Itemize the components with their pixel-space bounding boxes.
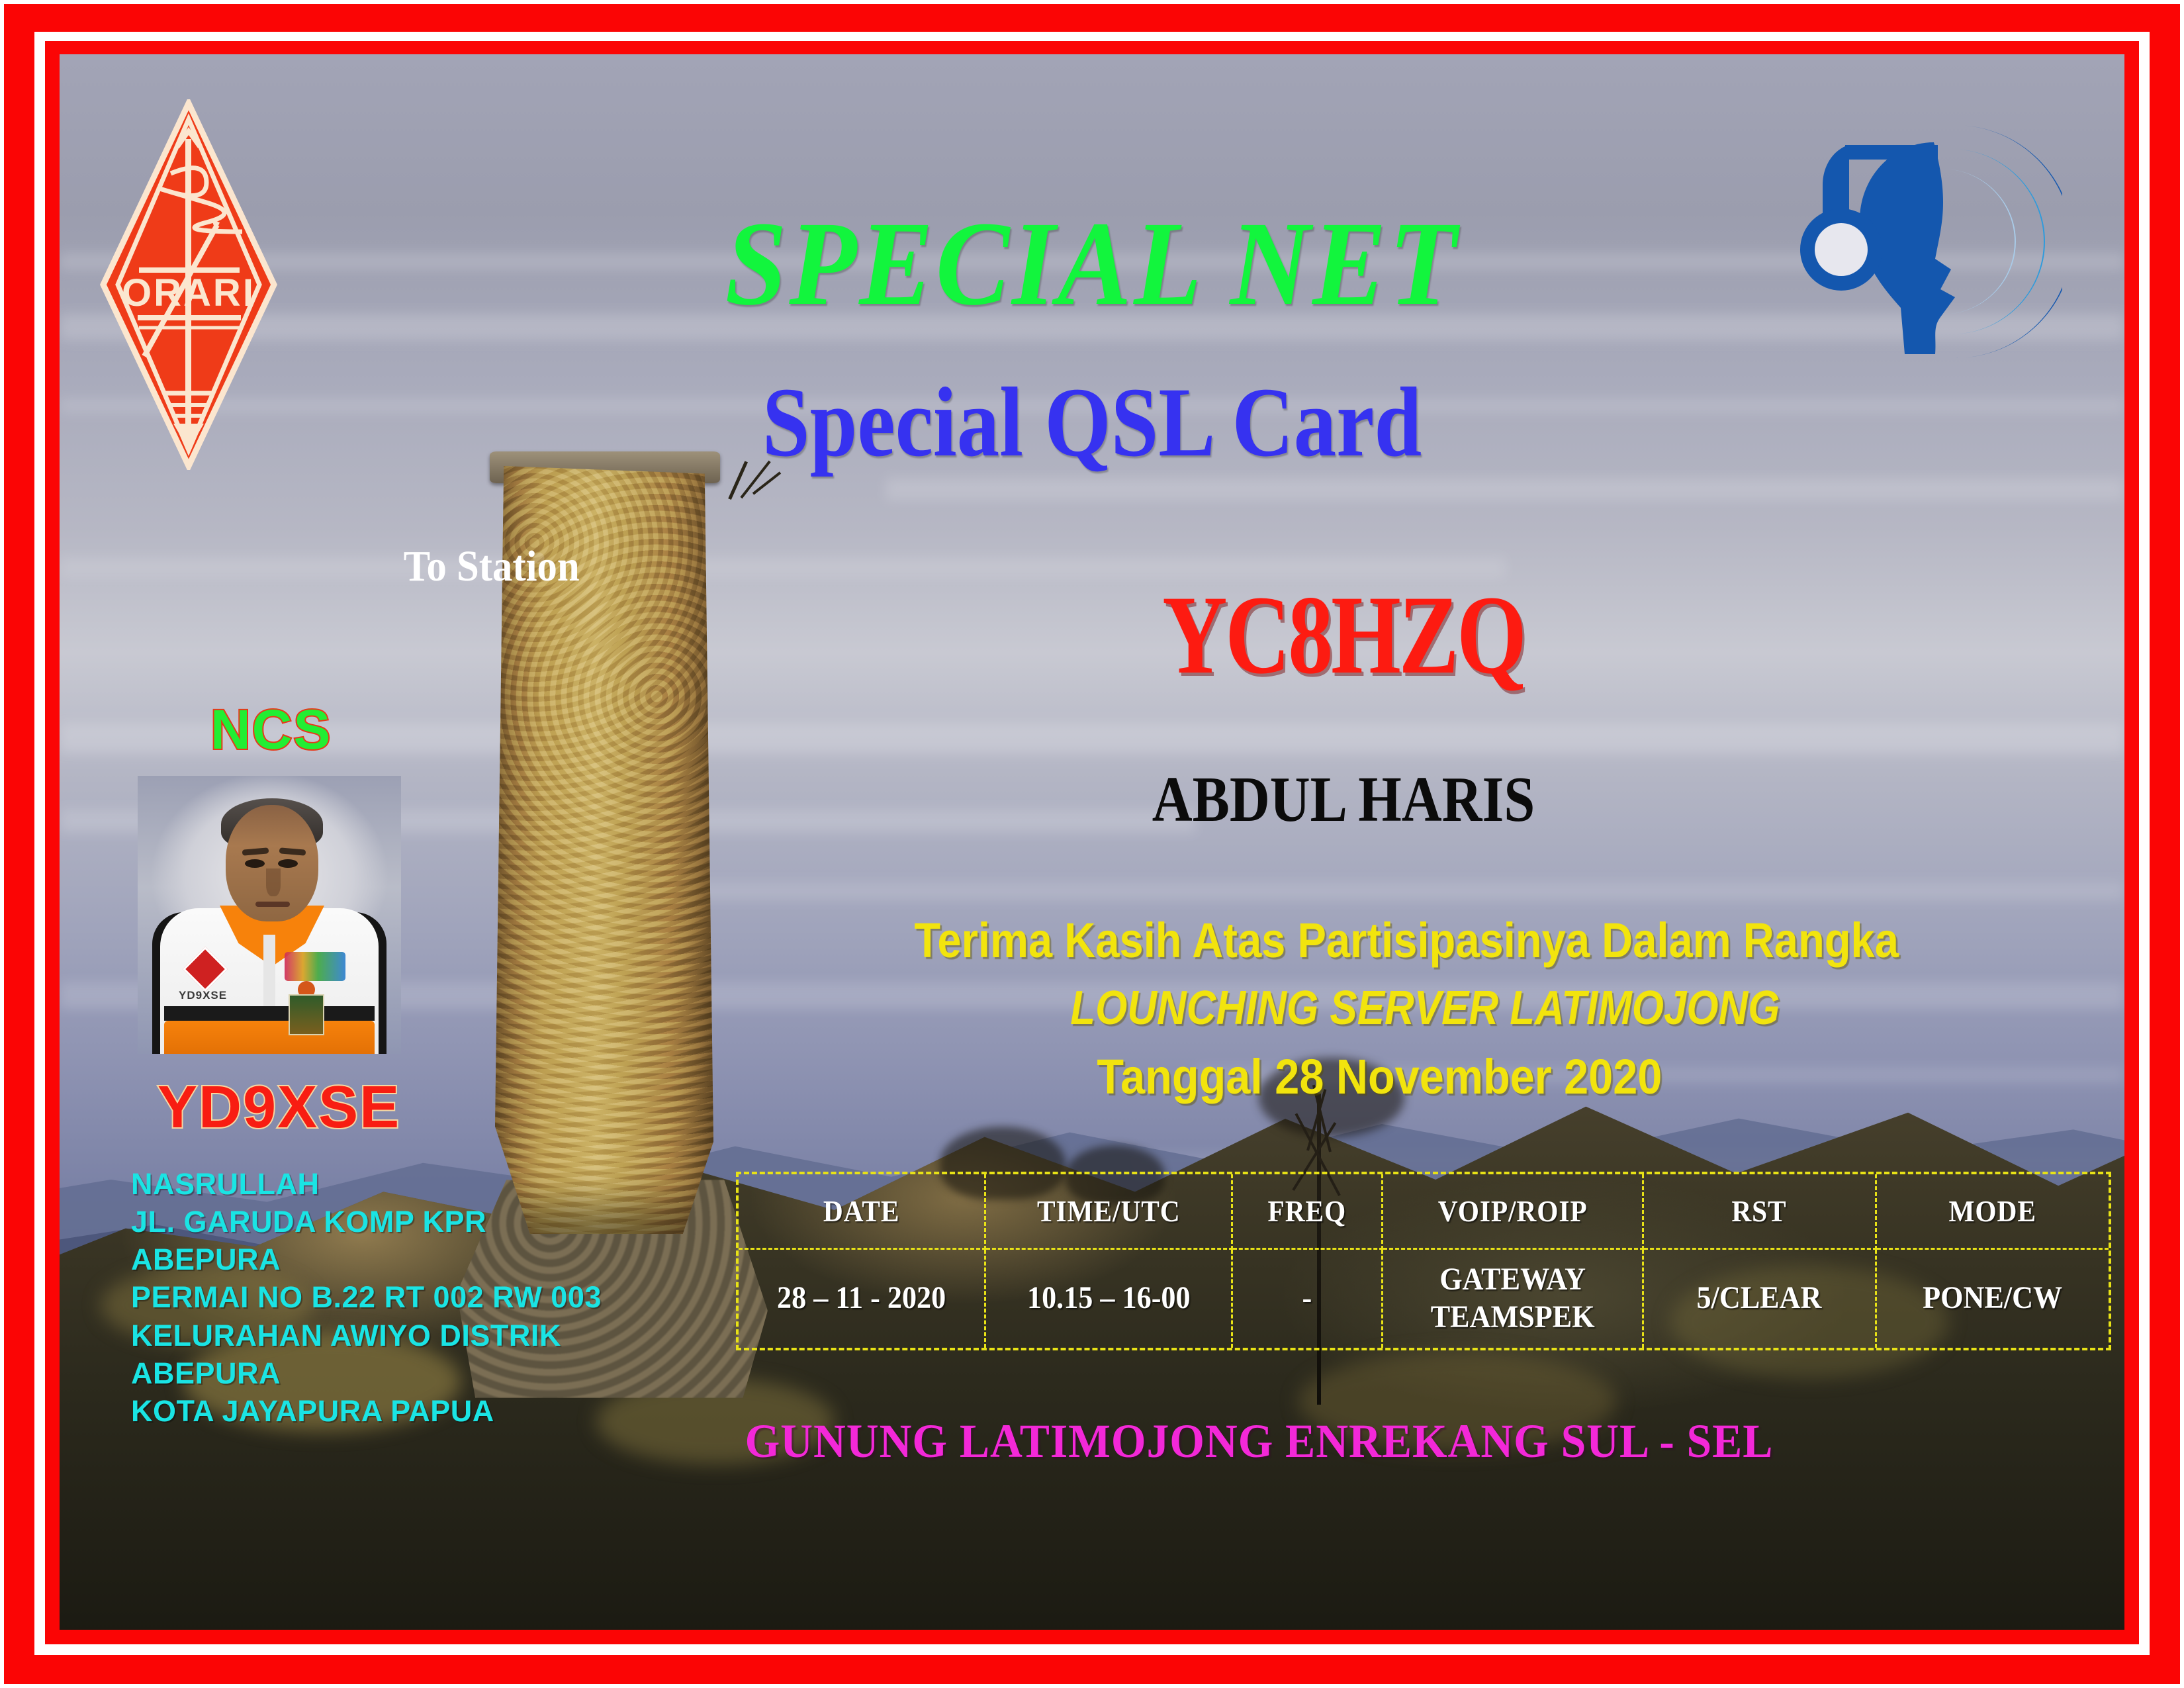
portrait-mouth	[255, 902, 290, 907]
cloud-band	[576, 882, 2124, 900]
qso-log-table: DATE TIME/UTC FREQ VOIP/ROIP RST MODE 28…	[736, 1172, 2111, 1350]
jacket-beltline	[164, 1006, 375, 1021]
background-photo: ORARI	[60, 54, 2124, 1630]
portrait-eye	[245, 859, 265, 868]
to-station-label: To Station	[404, 541, 580, 592]
station-callsign: YC8HZQ	[1084, 571, 1603, 700]
cell-voip-roip: GATEWAY TEAMSPEK	[1393, 1248, 1633, 1348]
ncs-portrait-photo: YD9XSE	[138, 776, 401, 1054]
postal-address-block: NASRULLAH JL. GARUDA KOMP KPR ABEPURA PE…	[131, 1165, 602, 1430]
portrait-eye	[278, 859, 298, 868]
uniform-emblem	[285, 952, 345, 981]
qsl-card: ORARI	[0, 0, 2184, 1688]
uniform-callsign-text: YD9XSE	[179, 989, 227, 1002]
column-header-mode: MODE	[1888, 1174, 2097, 1248]
cell-rst: 5/CLEAR	[1652, 1248, 1866, 1348]
table-header-row: DATE TIME/UTC FREQ VOIP/ROIP RST MODE	[739, 1174, 2109, 1248]
thanks-line-2: LOUNCHING SERVER LATIMOJONG	[1070, 981, 1780, 1035]
thanks-line-3: Tanggal 28 November 2020	[1097, 1049, 1662, 1105]
column-header-time-utc: TIME/UTC	[997, 1174, 1219, 1248]
orange-sash	[164, 1021, 375, 1054]
ncs-callsign: YD9XSE	[158, 1074, 400, 1142]
id-badge	[289, 994, 324, 1035]
thanks-line-1: Terima Kasih Atas Partisipasinya Dalam R…	[914, 912, 1899, 968]
cell-time-utc: 10.15 – 16-00	[995, 1248, 1222, 1348]
cloud-band	[60, 723, 2124, 753]
ncs-role-label: NCS	[210, 698, 332, 762]
cloud-band	[886, 478, 2124, 500]
location-caption: GUNUNG LATIMOJONG ENREKANG SUL - SEL	[745, 1414, 1774, 1469]
cell-freq: -	[1238, 1248, 1376, 1348]
column-header-date: DATE	[751, 1174, 973, 1248]
table-row: 28 – 11 - 2020 10.15 – 16-00 - GATEWAY T…	[739, 1248, 2109, 1348]
column-header-freq: FREQ	[1240, 1174, 1375, 1248]
page-subtitle-special-qsl-card: Special QSL Card	[204, 365, 1979, 479]
cell-date: 28 – 11 - 2020	[749, 1248, 976, 1348]
page-title-special-net: SPECIAL NET	[142, 195, 2042, 333]
portrait-nose	[266, 868, 281, 896]
operator-name: ABDUL HARIS	[1065, 763, 1623, 837]
column-header-rst: RST	[1655, 1174, 1864, 1248]
column-header-voip-roip: VOIP/ROIP	[1396, 1174, 1630, 1248]
cell-mode: PONE/CW	[1885, 1248, 2099, 1348]
